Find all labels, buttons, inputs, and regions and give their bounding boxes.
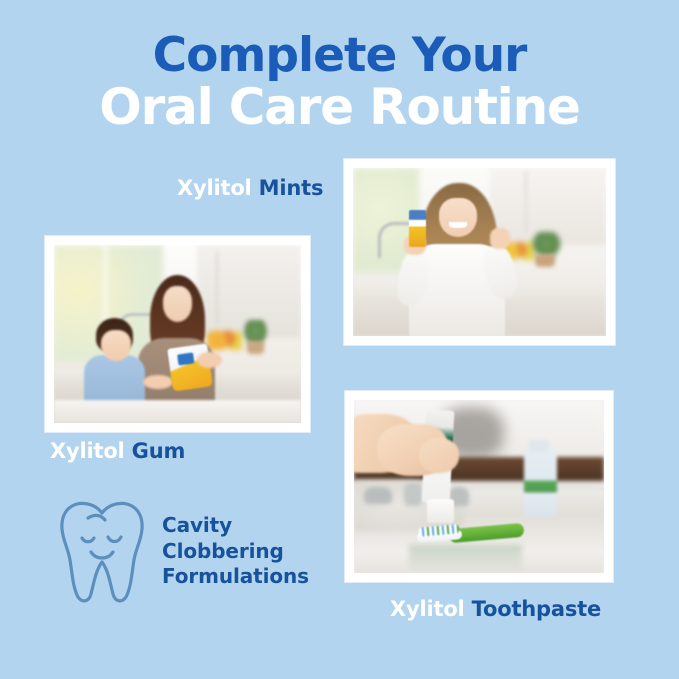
faucet-spout: [404, 483, 422, 505]
caption-mints-product: Mints: [259, 176, 324, 200]
hand-lower: [419, 438, 459, 473]
caption-gum-brand: Xylitol: [50, 439, 125, 463]
gum-pouch: [167, 344, 212, 392]
toothpaste-cap: [427, 499, 455, 523]
mouthwash-cap: [529, 440, 549, 452]
girl-smile: [449, 222, 467, 229]
marketing-infographic: Complete Your Oral Care Routine: [0, 0, 679, 679]
caption-mints-brand: Xylitol: [177, 176, 252, 200]
caption-mints: Xylitol Mints: [177, 176, 323, 200]
counter-front-edge: [54, 400, 301, 423]
caption-toothpaste-product: Toothpaste: [472, 597, 601, 621]
cavity-clobbering-badge: Cavity Clobbering Formulations: [58, 500, 318, 610]
mints-bottle: [409, 210, 427, 247]
badge-text: Cavity Clobbering Formulations: [162, 513, 309, 590]
boy-face: [101, 330, 131, 360]
headline-line-1: Complete Your: [0, 32, 679, 80]
caption-toothpaste-brand: Xylitol: [390, 597, 465, 621]
girl-right-hand: [490, 228, 510, 248]
caption-gum: Xylitol Gum: [50, 439, 185, 463]
girl-face: [439, 198, 477, 237]
product-photo-gum: [54, 245, 301, 423]
page-title: Complete Your Oral Care Routine: [0, 32, 679, 133]
smiling-tooth-icon: [58, 500, 146, 604]
faucet-handle-left: [364, 487, 392, 504]
product-photo-frame-toothpaste: [345, 391, 613, 582]
plant-pot: [247, 341, 264, 353]
product-photo-toothpaste: [354, 400, 604, 573]
product-photo-frame-gum: [45, 236, 310, 432]
fruit-bowl: [207, 329, 242, 350]
plant-pot: [535, 254, 555, 267]
badge-line-3: Formulations: [162, 564, 309, 590]
caption-gum-product: Gum: [132, 439, 185, 463]
boy-hands: [143, 375, 173, 389]
product-photo-frame-mints: [344, 159, 615, 345]
badge-line-1: Cavity: [162, 513, 309, 539]
mother-hand: [197, 352, 222, 368]
caption-toothpaste: Xylitol Toothpaste: [390, 597, 601, 621]
mother-face: [163, 286, 193, 322]
counter-reflection: [409, 545, 522, 573]
product-photo-mints: [353, 168, 606, 336]
mouthwash-bottle: [524, 448, 557, 517]
badge-line-2: Clobbering: [162, 539, 309, 565]
headline-line-2: Oral Care Routine: [0, 82, 679, 133]
